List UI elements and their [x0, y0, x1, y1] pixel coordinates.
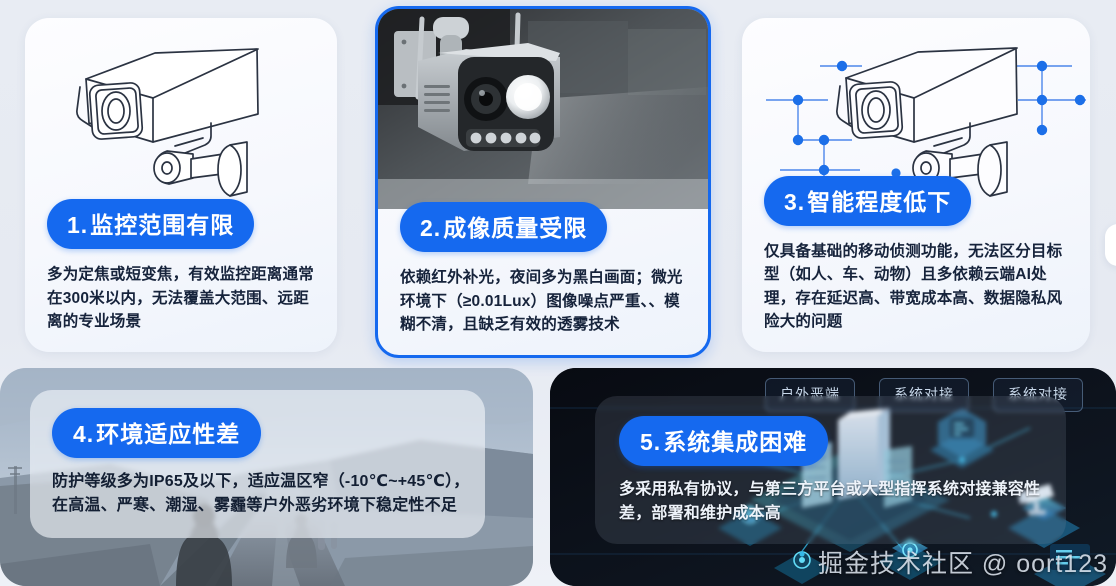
card-1-number: 1.	[67, 212, 88, 238]
card-2-number: 2.	[420, 215, 441, 241]
watermark: 掘金技术社区 @ oort123	[818, 544, 1108, 580]
card-3-number: 3.	[784, 189, 805, 215]
cropped-card-edge	[1105, 224, 1116, 266]
card-3-title: 智能程度低下	[807, 189, 951, 215]
card-3-body: 3.智能程度低下 仅具备基础的移动侦测功能，无法区分目标型（如人、车、动物）且多…	[742, 176, 1090, 352]
card-5-badge: 5.系统集成困难	[619, 416, 828, 466]
cctv-camera-night-photo	[378, 9, 708, 209]
card-4-badge: 4.环境适应性差	[52, 408, 261, 458]
issue-card-2[interactable]: 2.成像质量受限 依赖红外补光，夜间多为黑白画面；微光环境下（≥0.01Lux）…	[375, 6, 711, 358]
slide-canvas: 1.监控范围有限 多为定焦或短变焦，有效监控距离通常在300米以内，无法覆盖大范…	[0, 0, 1116, 586]
card-2-body: 2.成像质量受限 依赖红外补光，夜间多为黑白画面；微光环境下（≥0.01Lux）…	[378, 202, 708, 355]
card-5-title: 系统集成困难	[663, 429, 807, 455]
card-2-description: 依赖红外补光，夜间多为黑白画面；微光环境下（≥0.01Lux）图像噪点严重、、模…	[400, 266, 686, 337]
card-4-title: 环境适应性差	[96, 421, 240, 447]
card-5-body: 5.系统集成困难 多采用私有协议，与第三方平台或大型指挥系统对接兼容性差，部署和…	[595, 396, 1066, 527]
card-1-title: 监控范围有限	[90, 212, 234, 238]
card-2-badge: 2.成像质量受限	[400, 202, 607, 252]
card-3-badge: 3.智能程度低下	[764, 176, 971, 226]
card-4-number: 4.	[73, 421, 94, 447]
card-4-body: 4.环境适应性差 防护等级多为IP65及以下，适应温区窄（-10℃~+45℃），…	[30, 390, 485, 519]
card-5-description: 多采用私有协议，与第三方平台或大型指挥系统对接兼容性差，部署和维护成本高	[619, 478, 1066, 527]
card-4-description: 防护等级多为IP65及以下，适应温区窄（-10℃~+45℃），在高温、严寒、潮湿…	[52, 470, 485, 519]
card-5-number: 5.	[640, 429, 661, 455]
card-5-text-overlay: 5.系统集成困难 多采用私有协议，与第三方平台或大型指挥系统对接兼容性差，部署和…	[595, 396, 1066, 544]
issue-card-5[interactable]: 户外恶端 系统对接 系统对接 5.系统集成困难 多采用私有协议，与第三方平台或大…	[550, 368, 1116, 586]
card-1-description: 多为定焦或短变焦，有效监控距离通常在300米以内，无法覆盖大范围、远距离的专业场…	[47, 263, 315, 334]
card-1-badge: 1.监控范围有限	[47, 199, 254, 249]
issue-card-4[interactable]: 4.环境适应性差 防护等级多为IP65及以下，适应温区窄（-10℃~+45℃），…	[0, 368, 533, 586]
issue-card-3[interactable]: 3.智能程度低下 仅具备基础的移动侦测功能，无法区分目标型（如人、车、动物）且多…	[742, 18, 1090, 352]
card-1-body: 1.监控范围有限 多为定焦或短变焦，有效监控距离通常在300米以内，无法覆盖大范…	[25, 199, 337, 352]
cctv-camera-line-icon	[25, 18, 337, 213]
card-2-title: 成像质量受限	[443, 215, 587, 241]
issue-card-1[interactable]: 1.监控范围有限 多为定焦或短变焦，有效监控距离通常在300米以内，无法覆盖大范…	[25, 18, 337, 352]
card-4-text-overlay: 4.环境适应性差 防护等级多为IP65及以下，适应温区窄（-10℃~+45℃），…	[30, 390, 485, 538]
card-3-description: 仅具备基础的移动侦测功能，无法区分目标型（如人、车、动物）且多依赖云端AI处理，…	[764, 240, 1068, 334]
